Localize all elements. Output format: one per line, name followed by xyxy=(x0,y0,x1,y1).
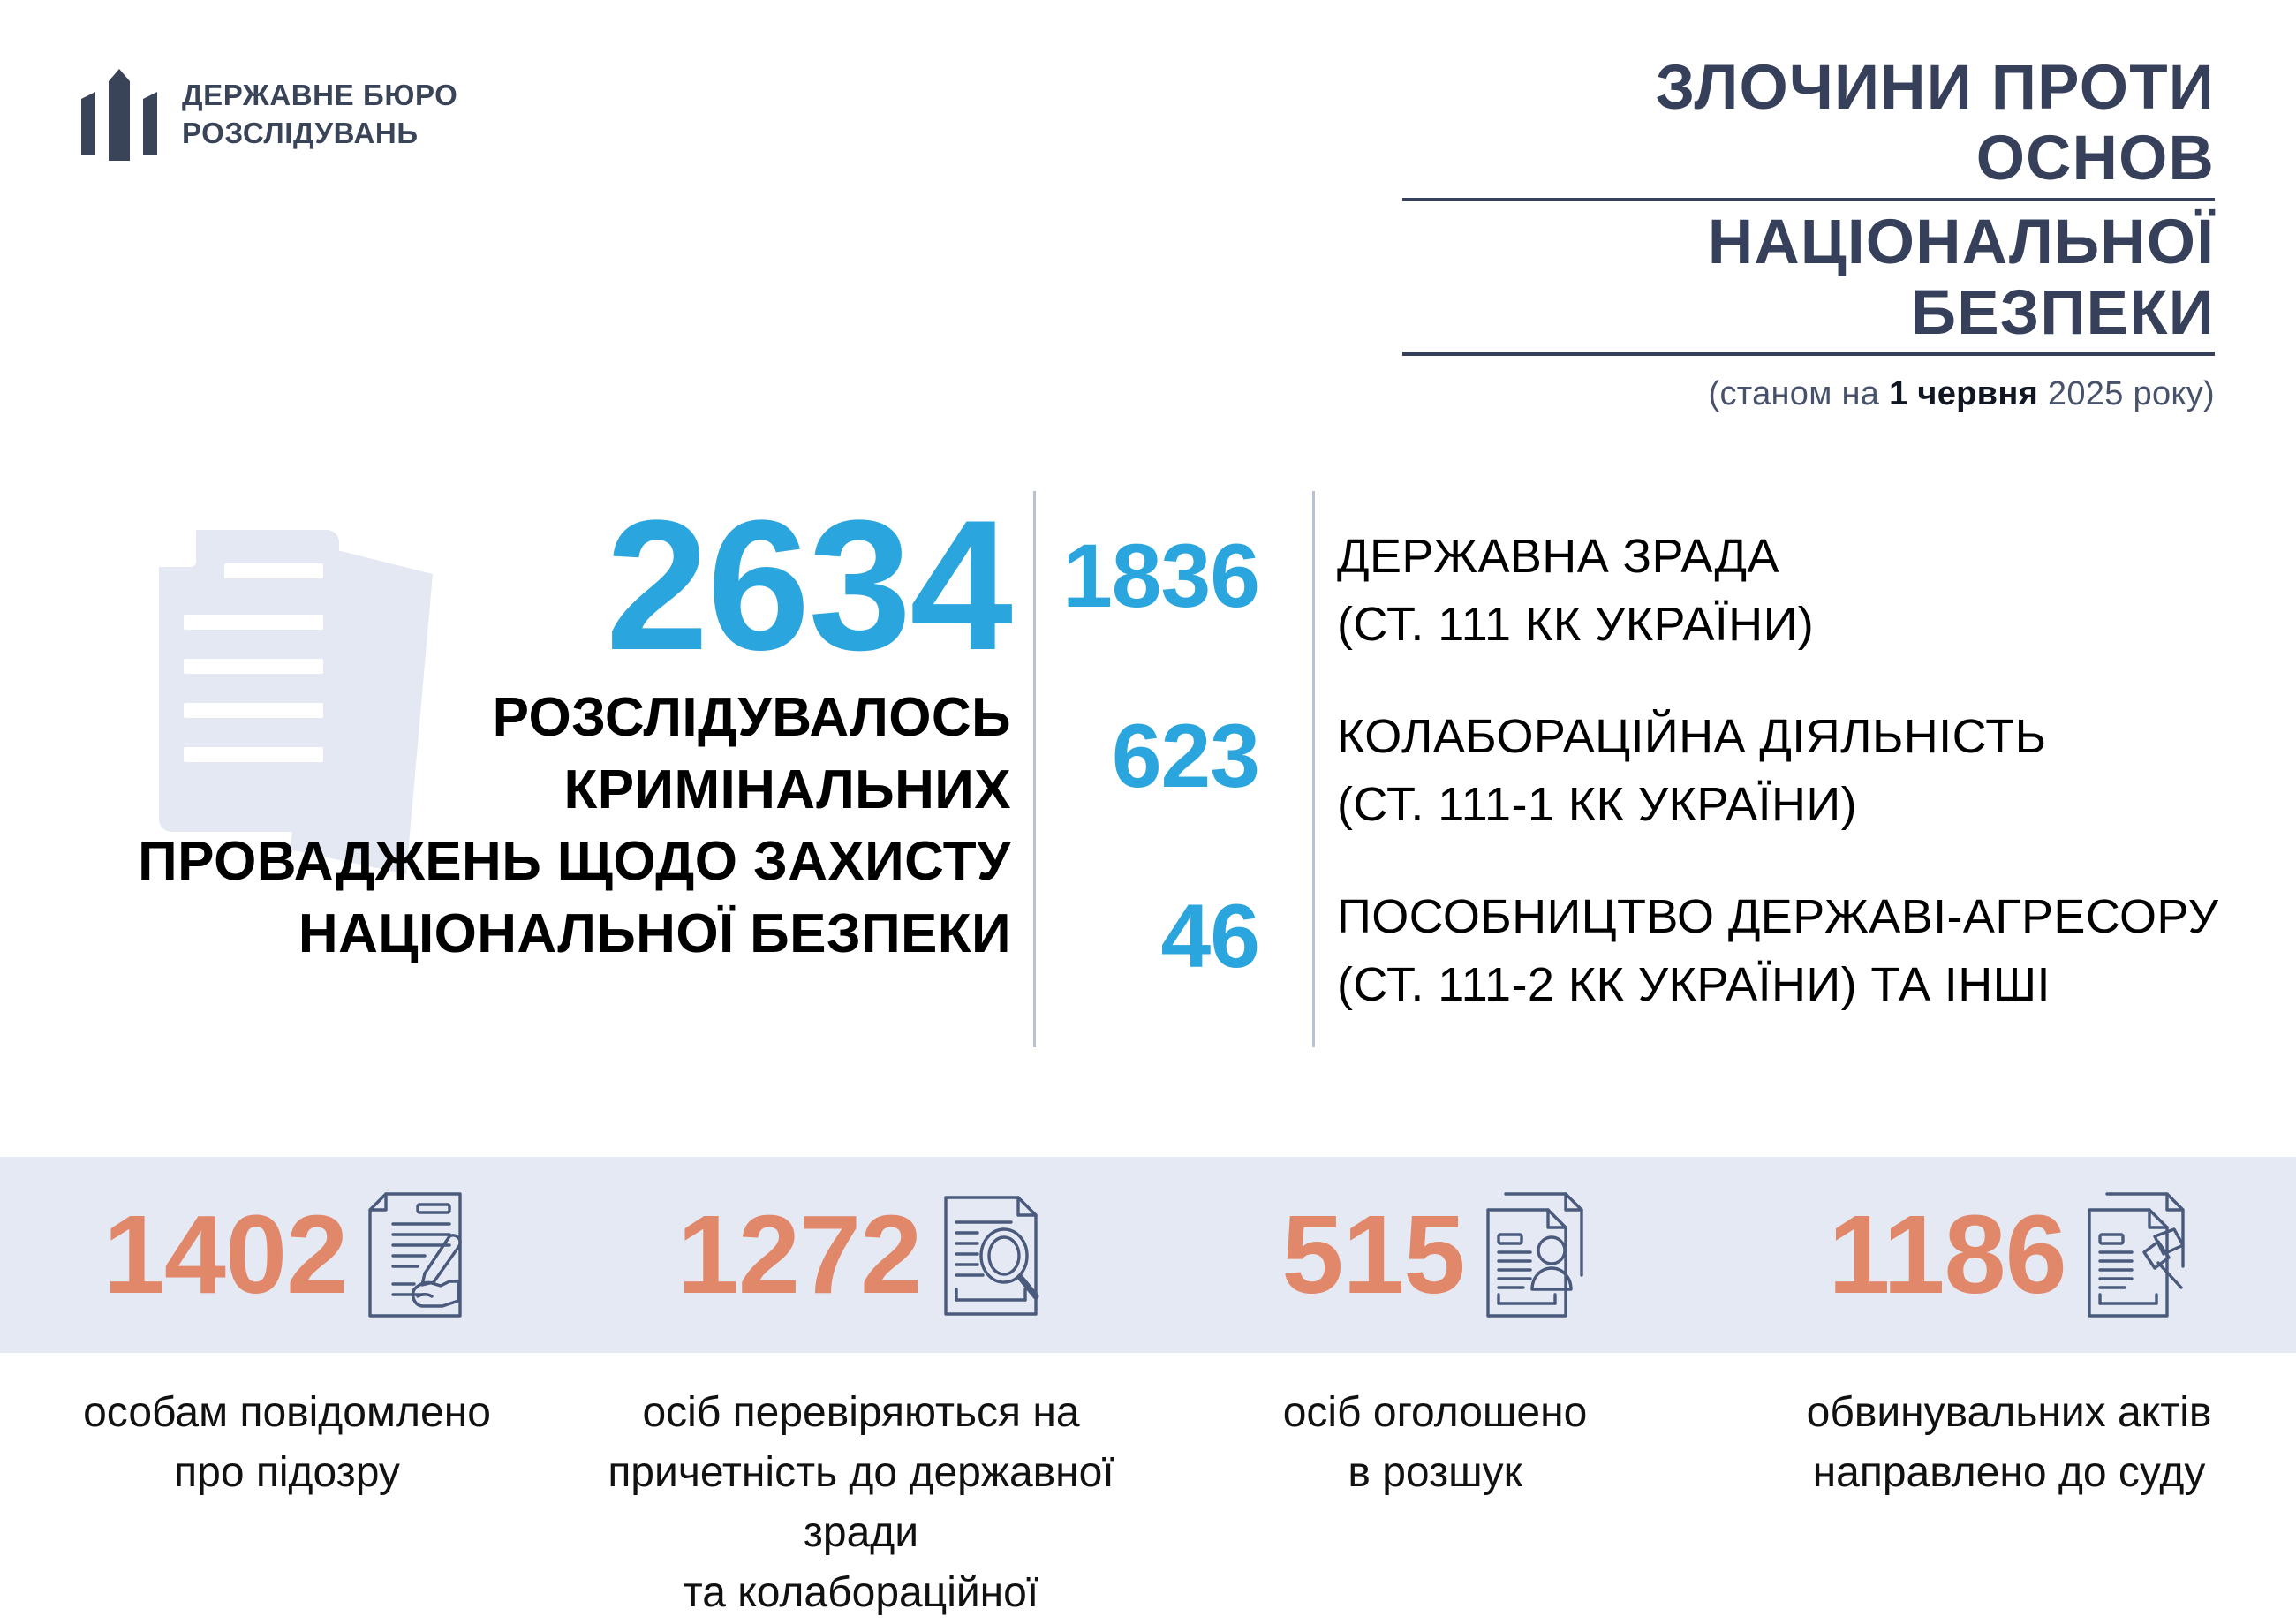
breakdown-value: 1836 xyxy=(1060,503,1288,649)
stat-top: 515 xyxy=(1281,1157,1588,1353)
breakdown-value: 46 xyxy=(1060,864,1288,1009)
breakdown-label-line-2: (СТ. 111 КК УКРАЇНИ) xyxy=(1337,591,2234,659)
breakdown-label-line-1: ДЕРЖАВНА ЗРАДА xyxy=(1337,523,2234,591)
brand-name: ДЕРЖАВНЕ БЮРО РОЗСЛІДУВАНЬ xyxy=(182,77,457,153)
stat-value: 515 xyxy=(1281,1199,1464,1311)
document-hand-signing-icon xyxy=(363,1190,471,1319)
stat-cell: 1186 xyxy=(1722,1157,2296,1624)
stats-row: 1402 особам повідомлено про підозру xyxy=(0,1157,2296,1624)
dbr-pillars-logo-icon xyxy=(81,69,157,161)
subtitle-suffix: 2025 року) xyxy=(2038,375,2215,412)
breakdown-row: 46 ПОСОБНИЦТВО ДЕРЖАВІ-АГРЕСОРУ (СТ. 111… xyxy=(1060,864,2234,1019)
column-divider-left xyxy=(1033,491,1036,1047)
document-person-icon xyxy=(1481,1190,1589,1319)
stat-top: 1272 xyxy=(677,1157,1045,1353)
headline-block: 2634 РОЗСЛІДУВАЛОСЬ КРИМІНАЛЬНИХ ПРОВАДЖ… xyxy=(79,495,1011,971)
page-title-line-2: НАЦІОНАЛЬНОЇ БЕЗПЕКИ xyxy=(1402,208,2215,356)
stat-caption: обвинувальних актів направлено до суду xyxy=(1791,1383,2228,1503)
subtitle-prefix: (станом на xyxy=(1709,375,1890,412)
breakdown-row: 1836 ДЕРЖАВНА ЗРАДА (СТ. 111 КК УКРАЇНИ) xyxy=(1060,503,2234,659)
stat-top: 1402 xyxy=(103,1157,471,1353)
stat-top: 1186 xyxy=(1828,1157,2189,1353)
breakdown-label-line-2: (СТ. 111-2 КК УКРАЇНИ) ТА ІНШІ xyxy=(1337,951,2234,1019)
stat-cell: 515 осіб оголошен xyxy=(1148,1157,1722,1624)
stat-caption: осіб оголошено в розшук xyxy=(1267,1383,1604,1503)
breakdown-label-line-1: ПОСОБНИЦТВО ДЕРЖАВІ-АГРЕСОРУ xyxy=(1337,883,2234,951)
breakdown-label: ПОСОБНИЦТВО ДЕРЖАВІ-АГРЕСОРУ (СТ. 111-2 … xyxy=(1288,864,2234,1018)
stat-value: 1186 xyxy=(1828,1199,2066,1311)
document-gavel-icon xyxy=(2082,1190,2190,1319)
breakdown-label: КОЛАБОРАЦІЙНА ДІЯЛЬНІСТЬ (СТ. 111-1 КК У… xyxy=(1288,684,2234,838)
page-subtitle: (станом на 1 червня 2025 року) xyxy=(1402,375,2215,413)
breakdown-list: 1836 ДЕРЖАВНА ЗРАДА (СТ. 111 КК УКРАЇНИ)… xyxy=(1060,503,2234,1044)
subtitle-date-accent: 1 червня xyxy=(1889,375,2038,412)
breakdown-value: 623 xyxy=(1060,684,1288,829)
stat-caption: осіб перевіряються на причетність до дер… xyxy=(574,1383,1148,1624)
document-magnifier-icon xyxy=(937,1190,1045,1319)
stat-value: 1402 xyxy=(103,1199,347,1311)
breakdown-row: 623 КОЛАБОРАЦІЙНА ДІЯЛЬНІСТЬ (СТ. 111-1 … xyxy=(1060,684,2234,839)
page-title-line-1: ЗЛОЧИНИ ПРОТИ ОСНОВ xyxy=(1402,53,2215,201)
headline-total-value: 2634 xyxy=(79,495,1011,676)
breakdown-label-line-1: КОЛАБОРАЦІЙНА ДІЯЛЬНІСТЬ xyxy=(1337,703,2234,771)
stat-cell: 1402 особам повідомлено про підозру xyxy=(0,1157,574,1624)
breakdown-label-line-2: (СТ. 111-1 КК УКРАЇНИ) xyxy=(1337,771,2234,839)
breakdown-label: ДЕРЖАВНА ЗРАДА (СТ. 111 КК УКРАЇНИ) xyxy=(1288,503,2234,658)
infographic-page: ДЕРЖАВНЕ БЮРО РОЗСЛІДУВАНЬ ЗЛОЧИНИ ПРОТИ… xyxy=(0,0,2296,1624)
stat-caption: особам повідомлено про підозру xyxy=(67,1383,507,1503)
headline-total-caption: РОЗСЛІДУВАЛОСЬ КРИМІНАЛЬНИХ ПРОВАДЖЕНЬ Щ… xyxy=(79,682,1011,971)
brand-logo-block: ДЕРЖАВНЕ БЮРО РОЗСЛІДУВАНЬ xyxy=(81,69,457,161)
page-title: ЗЛОЧИНИ ПРОТИ ОСНОВ НАЦІОНАЛЬНОЇ БЕЗПЕКИ… xyxy=(1402,53,2215,413)
stat-cell: 1272 осіб перевіряються на причетність д… xyxy=(574,1157,1148,1624)
stat-value: 1272 xyxy=(677,1199,921,1311)
